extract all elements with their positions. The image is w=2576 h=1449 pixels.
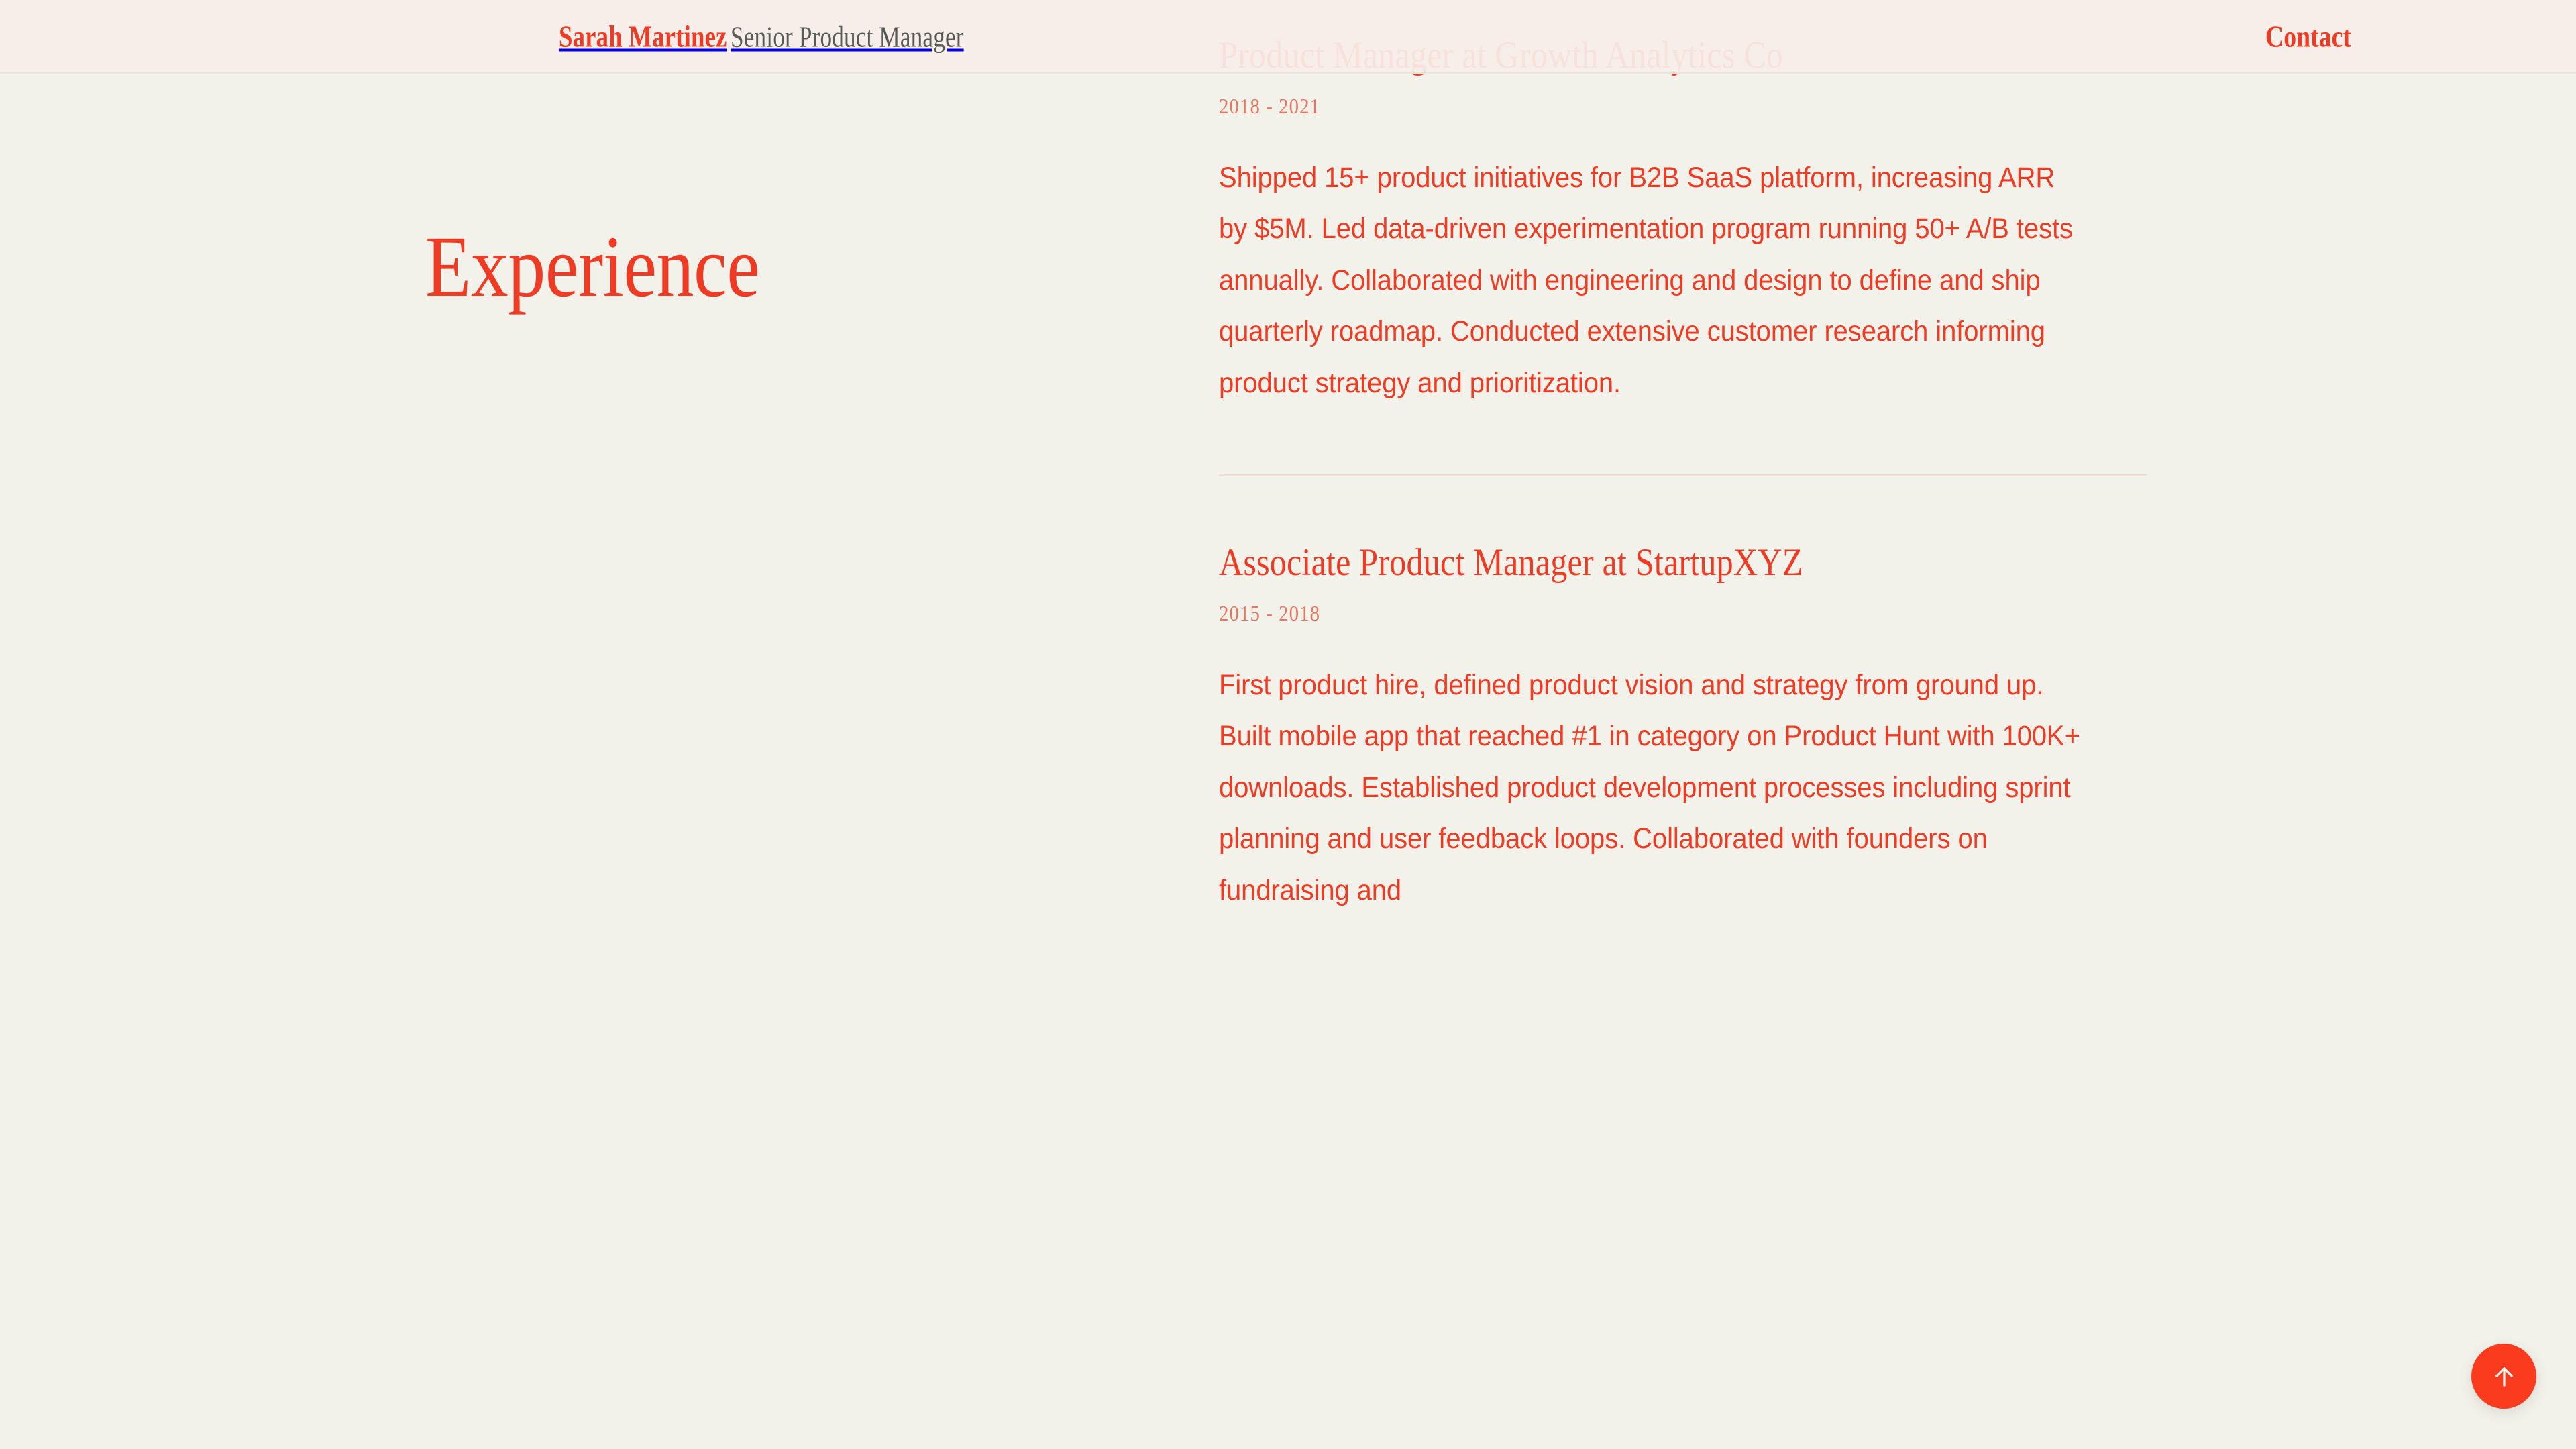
scroll-to-top-button[interactable] — [2471, 1344, 2536, 1409]
page-title: Experience — [425, 223, 759, 311]
site-header: Sarah Martinez Senior Product Manager Co… — [0, 0, 2576, 74]
brand-role: Senior Product Manager — [731, 19, 964, 54]
brand-name: Sarah Martinez — [559, 18, 727, 54]
main-content: Experience engineers, designers, and ana… — [0, 0, 2576, 1449]
experience-list: engineers, designers, and analysts. Defi… — [1219, 0, 2147, 916]
brand-link[interactable]: Sarah Martinez Senior Product Manager — [559, 18, 1022, 54]
entry-title: Associate Product Manager at StartupXYZ — [1219, 541, 2035, 585]
page-root: Experience engineers, designers, and ana… — [0, 0, 2576, 1449]
experience-entry: Associate Product Manager at StartupXYZ … — [1219, 541, 2147, 916]
entry-description: First product hire, defined product visi… — [1219, 659, 2082, 916]
nav-link-contact[interactable]: Contact — [2265, 18, 2351, 54]
entry-divider — [1219, 474, 2147, 476]
header-inner: Sarah Martinez Senior Product Manager Co… — [0, 0, 2576, 72]
experience-entry: Product Manager at Growth Analytics Co 2… — [1219, 34, 2147, 409]
entry-dates: 2018 - 2021 — [1219, 94, 2054, 119]
arrow-up-icon — [2490, 1362, 2518, 1391]
entry-dates: 2015 - 2018 — [1219, 601, 2054, 626]
entry-description: Shipped 15+ product initiatives for B2B … — [1219, 152, 2082, 409]
